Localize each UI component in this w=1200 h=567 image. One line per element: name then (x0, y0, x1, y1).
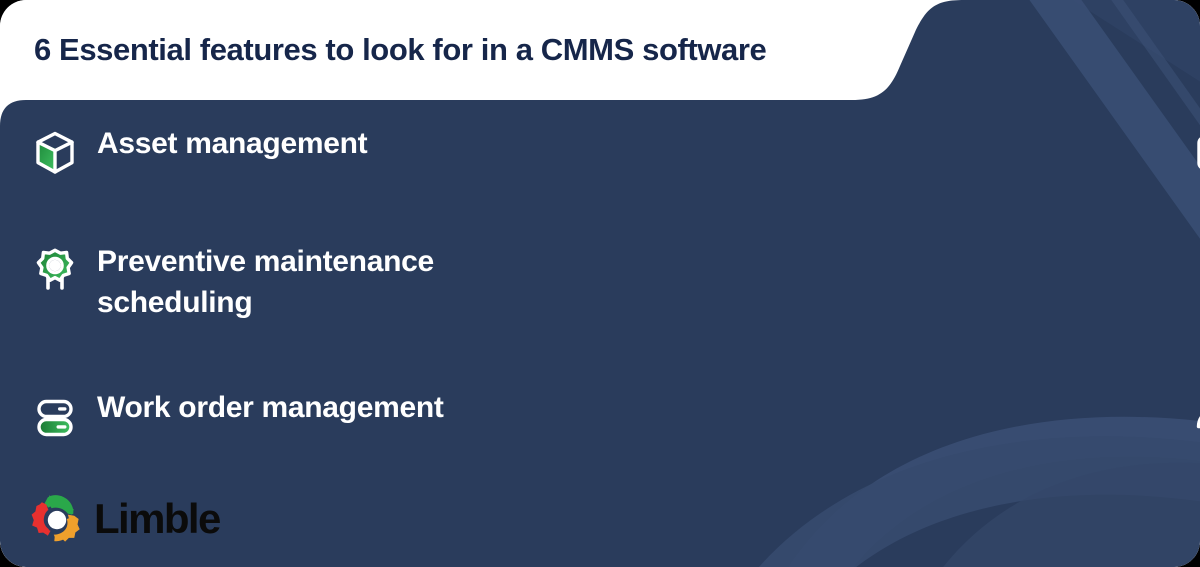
feature-item-asset-management[interactable]: Asset management (0, 124, 580, 220)
inventory-list-icon (1190, 126, 1200, 180)
gear-wrench-icon (30, 244, 80, 298)
logo-plate: Limble (0, 470, 296, 567)
feature-item-inventory-management[interactable]: Inventory management (580, 124, 1190, 220)
feature-item-reporting-dashboards[interactable]: Reporting and dashboards (580, 388, 1190, 510)
feature-item-preventive-maintenance[interactable]: Preventive maintenance scheduling (0, 242, 580, 364)
cube-icon (30, 126, 80, 180)
infographic-card: 6 Essential features to look for in a CM… (0, 0, 1200, 567)
brand-logo[interactable]: Limble (0, 492, 220, 546)
limble-gear-logo-icon (30, 492, 84, 546)
mobile-phone-icon (1190, 244, 1200, 298)
features-grid: Asset management (0, 124, 1200, 511)
page-title: 6 Essential features to look for in a CM… (0, 32, 766, 68)
title-bar: 6 Essential features to look for in a CM… (0, 0, 960, 100)
feature-item-mobile-app[interactable]: Mobile CMMS app (580, 242, 1190, 364)
feature-label: Preventive maintenance scheduling (80, 242, 527, 324)
feature-label: Work order management (80, 388, 444, 429)
stacked-bars-icon (30, 390, 80, 444)
feature-label: Asset management (80, 124, 367, 165)
logo-wordmark: Limble (84, 498, 220, 540)
gauge-icon (1190, 390, 1200, 444)
